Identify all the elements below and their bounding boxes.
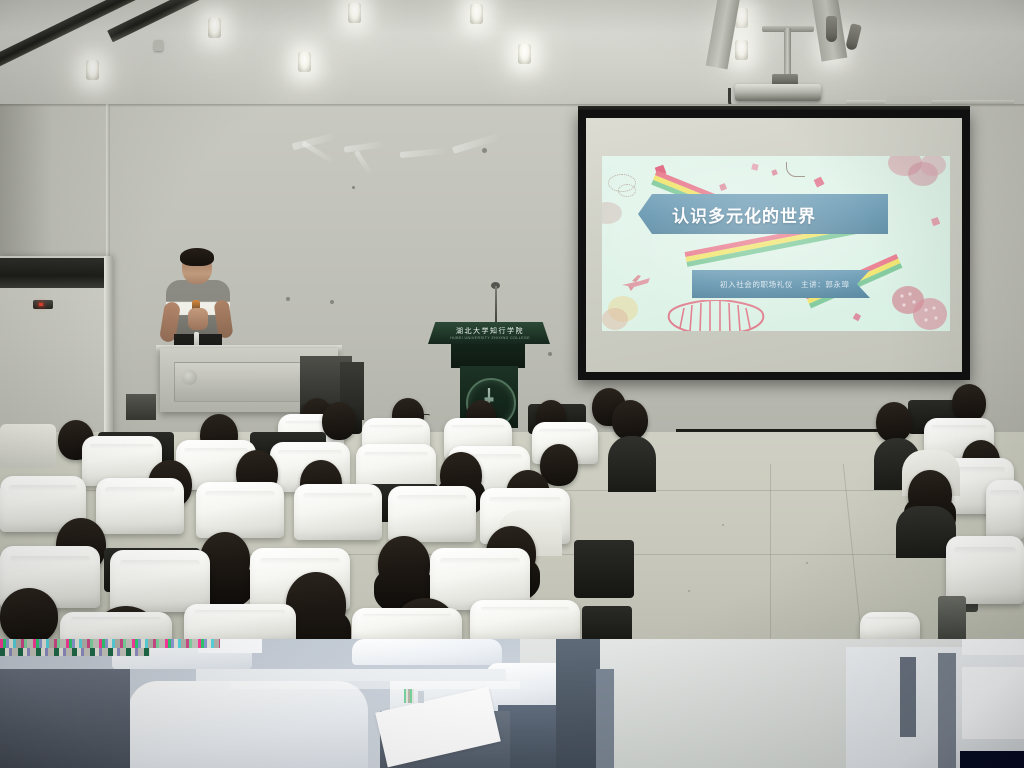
seat-frame [574, 540, 634, 598]
ceiling-spotlight [735, 40, 748, 60]
auditorium-seat [388, 486, 476, 542]
seat-armrest [938, 596, 966, 642]
student-head [322, 402, 356, 440]
slide-subtitle: 初入社会的职场礼仪 主讲：郭永瑋 [720, 279, 850, 290]
ceiling-spotlight [348, 3, 361, 23]
projector-mount-pole [784, 28, 791, 80]
ceiling-spotlight [298, 52, 311, 72]
auditorium-seat [986, 480, 1024, 540]
floor-speck [722, 524, 724, 526]
auditorium-seat [110, 550, 210, 612]
student-head [378, 536, 430, 592]
airplane-icon [620, 274, 654, 297]
auditorium-seat [470, 600, 580, 642]
ceiling-spotlight [470, 4, 483, 24]
heart-decoration [931, 217, 940, 226]
gooseneck-microphone-stand [495, 286, 497, 324]
projection-screen-surface: 认识多元化的世界 初入社会的职场礼仪 主讲：郭永瑋 [586, 118, 962, 372]
student-head [952, 384, 986, 422]
glitch-displaced-block [196, 669, 506, 681]
ceiling-spotlight [86, 60, 99, 80]
glitch-seat-block [128, 681, 368, 768]
glitch-noise-strip [0, 648, 150, 656]
podium-institution-romanized: HUBEI UNIVERSITY ZHIXING COLLEGE [440, 336, 540, 340]
glitch-noise-strip [0, 639, 220, 648]
student-head [876, 402, 912, 442]
lecture-hall-photo: 认识多元化的世界 初入社会的职场礼仪 主讲：郭永瑋 [0, 0, 1024, 768]
auditorium-seat [196, 482, 284, 538]
pendant-lamp [845, 23, 862, 51]
glitch-displaced-block [962, 667, 1024, 739]
heart-decoration [853, 313, 861, 321]
floor-tile-seam [770, 464, 771, 640]
wall-nail-hole [286, 297, 290, 301]
ac-side-edge [104, 256, 113, 436]
auditorium-seat [946, 536, 1024, 604]
heart-decoration [814, 177, 825, 188]
heart-decoration [771, 169, 777, 175]
flower-decoration [602, 308, 628, 330]
ceiling-spotlight [518, 44, 531, 64]
ac-status-indicator [33, 300, 53, 309]
desk-ornament [182, 370, 197, 385]
heart-decoration [751, 163, 758, 170]
image-corruption-band [0, 639, 1024, 768]
auditorium-seat [860, 612, 920, 642]
glitch-displaced-block [962, 639, 1024, 655]
podium-institution-name: 湖北大学知行学院 [440, 326, 540, 336]
slide-title-banner: 认识多元化的世界 [638, 194, 888, 234]
bag-on-seat [0, 424, 56, 468]
pendant-lamp [826, 16, 837, 42]
glitch-seat-block [352, 639, 502, 665]
glitch-navy-block [960, 751, 1024, 768]
smoke-detector-icon [154, 40, 163, 51]
ceiling-spotlight [208, 18, 221, 38]
ac-top-vent [0, 258, 104, 288]
wall-nail-hole [330, 300, 334, 304]
glitch-color-artifact [418, 691, 424, 703]
side-stool [126, 394, 156, 420]
glitch-displaced-block [230, 681, 520, 689]
podium-neck [451, 344, 525, 368]
presenter-hair [180, 248, 214, 266]
wall-nail-hole [352, 186, 355, 189]
heart-decoration [719, 183, 727, 191]
auditorium-seat [184, 604, 296, 644]
ceiling-light-strip [107, 0, 382, 42]
floor-speck [806, 562, 808, 564]
glitch-color-artifact [404, 689, 414, 703]
wall-nail-hole [548, 352, 552, 356]
decorative-swirl [618, 184, 636, 197]
glitch-frame-block [938, 653, 956, 768]
flower-decoration [920, 156, 946, 176]
student-torso [608, 436, 656, 492]
student-head [0, 588, 58, 644]
floor-speck [688, 590, 690, 592]
flower-decoration [602, 202, 622, 224]
cherry-stem-decoration [786, 162, 805, 177]
glitch-frame-block [900, 657, 916, 737]
presentation-slide: 认识多元化的世界 初入社会的职场礼仪 主讲：郭永瑋 [602, 156, 950, 331]
student-head [612, 400, 648, 440]
glitch-frame-block [596, 669, 614, 768]
flower-decoration [890, 284, 948, 331]
projection-screen: 认识多元化的世界 初入社会的职场礼仪 主讲：郭永瑋 [578, 110, 970, 380]
glitch-frame-block [556, 639, 600, 768]
slide-subtitle-banner: 初入社会的职场礼仪 主讲：郭永瑋 [692, 270, 870, 298]
auditorium-seat [294, 484, 382, 540]
wall-nail-hole [482, 148, 487, 153]
presenter-hands [188, 308, 208, 330]
glitch-frame-block [0, 669, 130, 768]
auditorium-seat [96, 478, 184, 534]
eyeglasses [458, 476, 480, 482]
slide-title: 认识多元化的世界 [672, 202, 816, 227]
flower-decoration [660, 300, 772, 331]
